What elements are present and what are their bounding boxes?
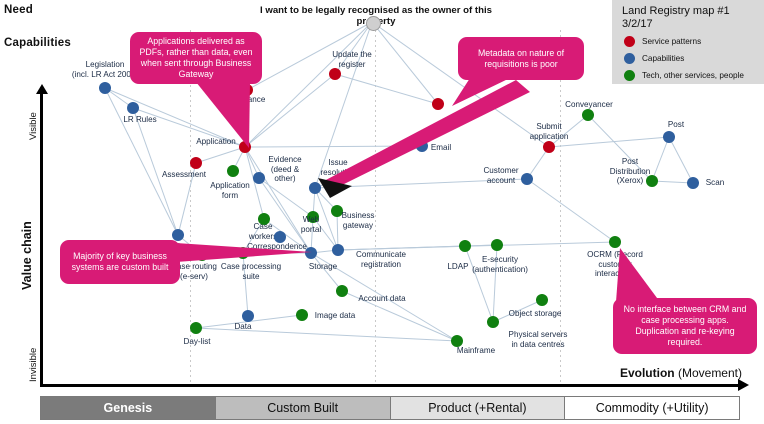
map-node-label-bus-gateway: Business gateway	[342, 211, 375, 230]
map-node-label-mainframe: Mainframe	[457, 346, 495, 356]
map-node-label-object-stor: Object storage	[509, 309, 562, 319]
map-node-label-case-proc: Case processing suite	[221, 262, 281, 281]
map-node-esecurity[interactable]	[491, 239, 503, 251]
map-node-label-data: Data	[234, 322, 251, 332]
map-node-data[interactable]	[242, 310, 254, 322]
legend-title-line1: Land Registry map #1	[622, 5, 730, 18]
map-node-email[interactable]	[416, 140, 428, 152]
map-node-object-stor[interactable]	[536, 294, 548, 306]
link-cust-account-ocrm	[527, 179, 615, 242]
legend-dot-icon	[624, 53, 635, 64]
map-node-label-phys-servers: Physical servers in data centres	[509, 330, 568, 349]
anchor-node[interactable]	[366, 16, 381, 31]
y-axis-title: Value chain	[20, 221, 34, 290]
map-node-label-ldap: LDAP	[447, 262, 468, 272]
map-node-scan[interactable]	[687, 177, 699, 189]
map-node-label-cust-account: Customer account	[483, 166, 518, 185]
legend-title: Land Registry map #1 3/2/17	[622, 5, 730, 31]
x-axis-arrowhead	[738, 379, 749, 391]
map-node-label-account-data: Account data	[358, 294, 405, 304]
link-update-reg-requisition	[335, 74, 438, 104]
map-node-post[interactable]	[663, 131, 675, 143]
map-node-case-routing[interactable]	[196, 249, 208, 261]
callout-applications-pdf: Applications delivered as PDFs, rather t…	[130, 32, 262, 84]
map-node-label-conveyancer: Conveyancer	[565, 100, 613, 110]
evolution-stage-commodity-utility: Commodity (+Utility)	[565, 397, 739, 419]
map-node-requisition[interactable]	[432, 98, 444, 110]
y-axis-top-label: Visible	[28, 112, 39, 140]
map-node-submit-app[interactable]	[543, 141, 555, 153]
map-node-label-update-reg: Update the register	[332, 50, 372, 69]
x-axis-line	[40, 384, 740, 387]
map-node-label-evidence: Evidence (deed & other)	[268, 155, 301, 184]
map-node-image-data[interactable]	[296, 309, 308, 321]
map-node-label-email: Email	[431, 143, 451, 153]
x-axis-title-rest: (Movement)	[675, 366, 742, 380]
link-anchor-requisition	[372, 22, 438, 104]
callout-metadata-requisitions: Metadata on nature of requisitions is po…	[458, 37, 584, 80]
legend-title-line2: 3/2/17	[622, 18, 730, 31]
map-node-label-post-dist: Post Distribution (Xerox)	[610, 157, 651, 186]
evolution-stage-product-rental: Product (+Rental)	[391, 397, 566, 419]
map-node-label-image-data: Image data	[315, 311, 356, 321]
map-node-ldap[interactable]	[459, 240, 471, 252]
map-node-update-reg[interactable]	[329, 68, 341, 80]
map-node-legislation[interactable]	[99, 82, 111, 94]
map-node-label-submit-app: Submit application	[530, 122, 569, 141]
map-node-conveyancer[interactable]	[582, 109, 594, 121]
map-node-label-comm-reg: Communicate registration	[356, 250, 406, 269]
map-node-label-web-portal: Web portal	[301, 215, 321, 234]
map-node-app-form[interactable]	[227, 165, 239, 177]
legend-panel: Land Registry map #1 3/2/17 Service patt…	[612, 0, 764, 84]
evolution-stage-genesis: Genesis	[41, 397, 216, 419]
map-node-label-day-list: Day-list	[184, 337, 211, 347]
map-node-label-scan: Scan	[706, 178, 724, 188]
legend-item-label: Tech, other services, people	[642, 71, 744, 80]
map-node-label-corresp: Correspondence	[247, 242, 307, 252]
map-node-case-proc[interactable]	[237, 247, 249, 259]
link-update-reg-application	[245, 74, 335, 147]
link-legislation-rules	[105, 88, 178, 235]
legend-item-capabilities: Capabilities	[624, 53, 684, 64]
map-node-ocrm[interactable]	[609, 236, 621, 248]
map-node-label-application: Application	[196, 137, 236, 147]
x-axis-title-bold: Evolution	[620, 366, 675, 380]
map-node-rules[interactable]	[172, 229, 184, 241]
map-node-day-list[interactable]	[190, 322, 202, 334]
link-anchor-application	[245, 22, 372, 147]
evolution-stage-custom-built: Custom Built	[216, 397, 391, 419]
map-node-label-app-form: Application form	[210, 181, 250, 200]
callout-no-crm-interface: No interface between CRM and case proces…	[613, 298, 757, 354]
map-node-issue-res[interactable]	[309, 182, 321, 194]
map-node-phys-servers[interactable]	[487, 316, 499, 328]
map-node-label-storage: Storage	[309, 262, 337, 272]
map-node-label-lr-rules: LR Rules	[123, 115, 156, 125]
map-node-label-assessment: Assessment	[162, 170, 206, 180]
map-node-label-legislation: Legislation (incl. LR Act 2002)	[72, 60, 138, 79]
legend-dot-icon	[624, 70, 635, 81]
legend-item-service-patterns: Service patterns	[624, 36, 701, 47]
map-node-evidence[interactable]	[253, 172, 265, 184]
map-node-cust-account[interactable]	[521, 173, 533, 185]
map-node-application[interactable]	[239, 141, 251, 153]
link-application-email	[245, 146, 422, 147]
map-node-assessment[interactable]	[190, 157, 202, 169]
wardley-map-canvas: Need Capabilities I want to be legally r…	[0, 0, 764, 424]
map-node-lr-rules[interactable]	[127, 102, 139, 114]
link-evidence-web-portal	[259, 178, 313, 217]
map-node-label-ocrm: OCRM (Record customer interaction)	[587, 250, 643, 279]
x-axis-title: Evolution (Movement)	[620, 366, 742, 380]
link-post-post-dist	[652, 137, 669, 181]
legend-item-label: Service patterns	[642, 37, 701, 46]
callout-custom-built: Majority of key business systems are cus…	[60, 240, 180, 284]
map-node-storage[interactable]	[305, 247, 317, 259]
link-ocrm-comm-reg	[338, 242, 615, 250]
y-axis-line	[40, 92, 43, 386]
link-post-scan	[669, 137, 693, 183]
map-node-label-esecurity: E-security (authentication)	[472, 255, 528, 274]
map-node-comm-reg[interactable]	[332, 244, 344, 256]
map-node-label-post: Post	[668, 120, 684, 130]
legend-item-tech-other-services-people: Tech, other services, people	[624, 70, 744, 81]
legend-dot-icon	[624, 36, 635, 47]
map-node-label-issue-res: Issue resolution	[320, 158, 355, 177]
map-node-account-data[interactable]	[336, 285, 348, 297]
y-axis-bottom-label: Invisible	[28, 348, 39, 382]
evolution-stage-bar: GenesisCustom BuiltProduct (+Rental)Comm…	[40, 396, 740, 420]
legend-item-label: Capabilities	[642, 54, 684, 63]
map-node-label-guidance: Guidance	[231, 95, 266, 105]
map-node-label-case-workers: Case workers	[249, 222, 277, 241]
